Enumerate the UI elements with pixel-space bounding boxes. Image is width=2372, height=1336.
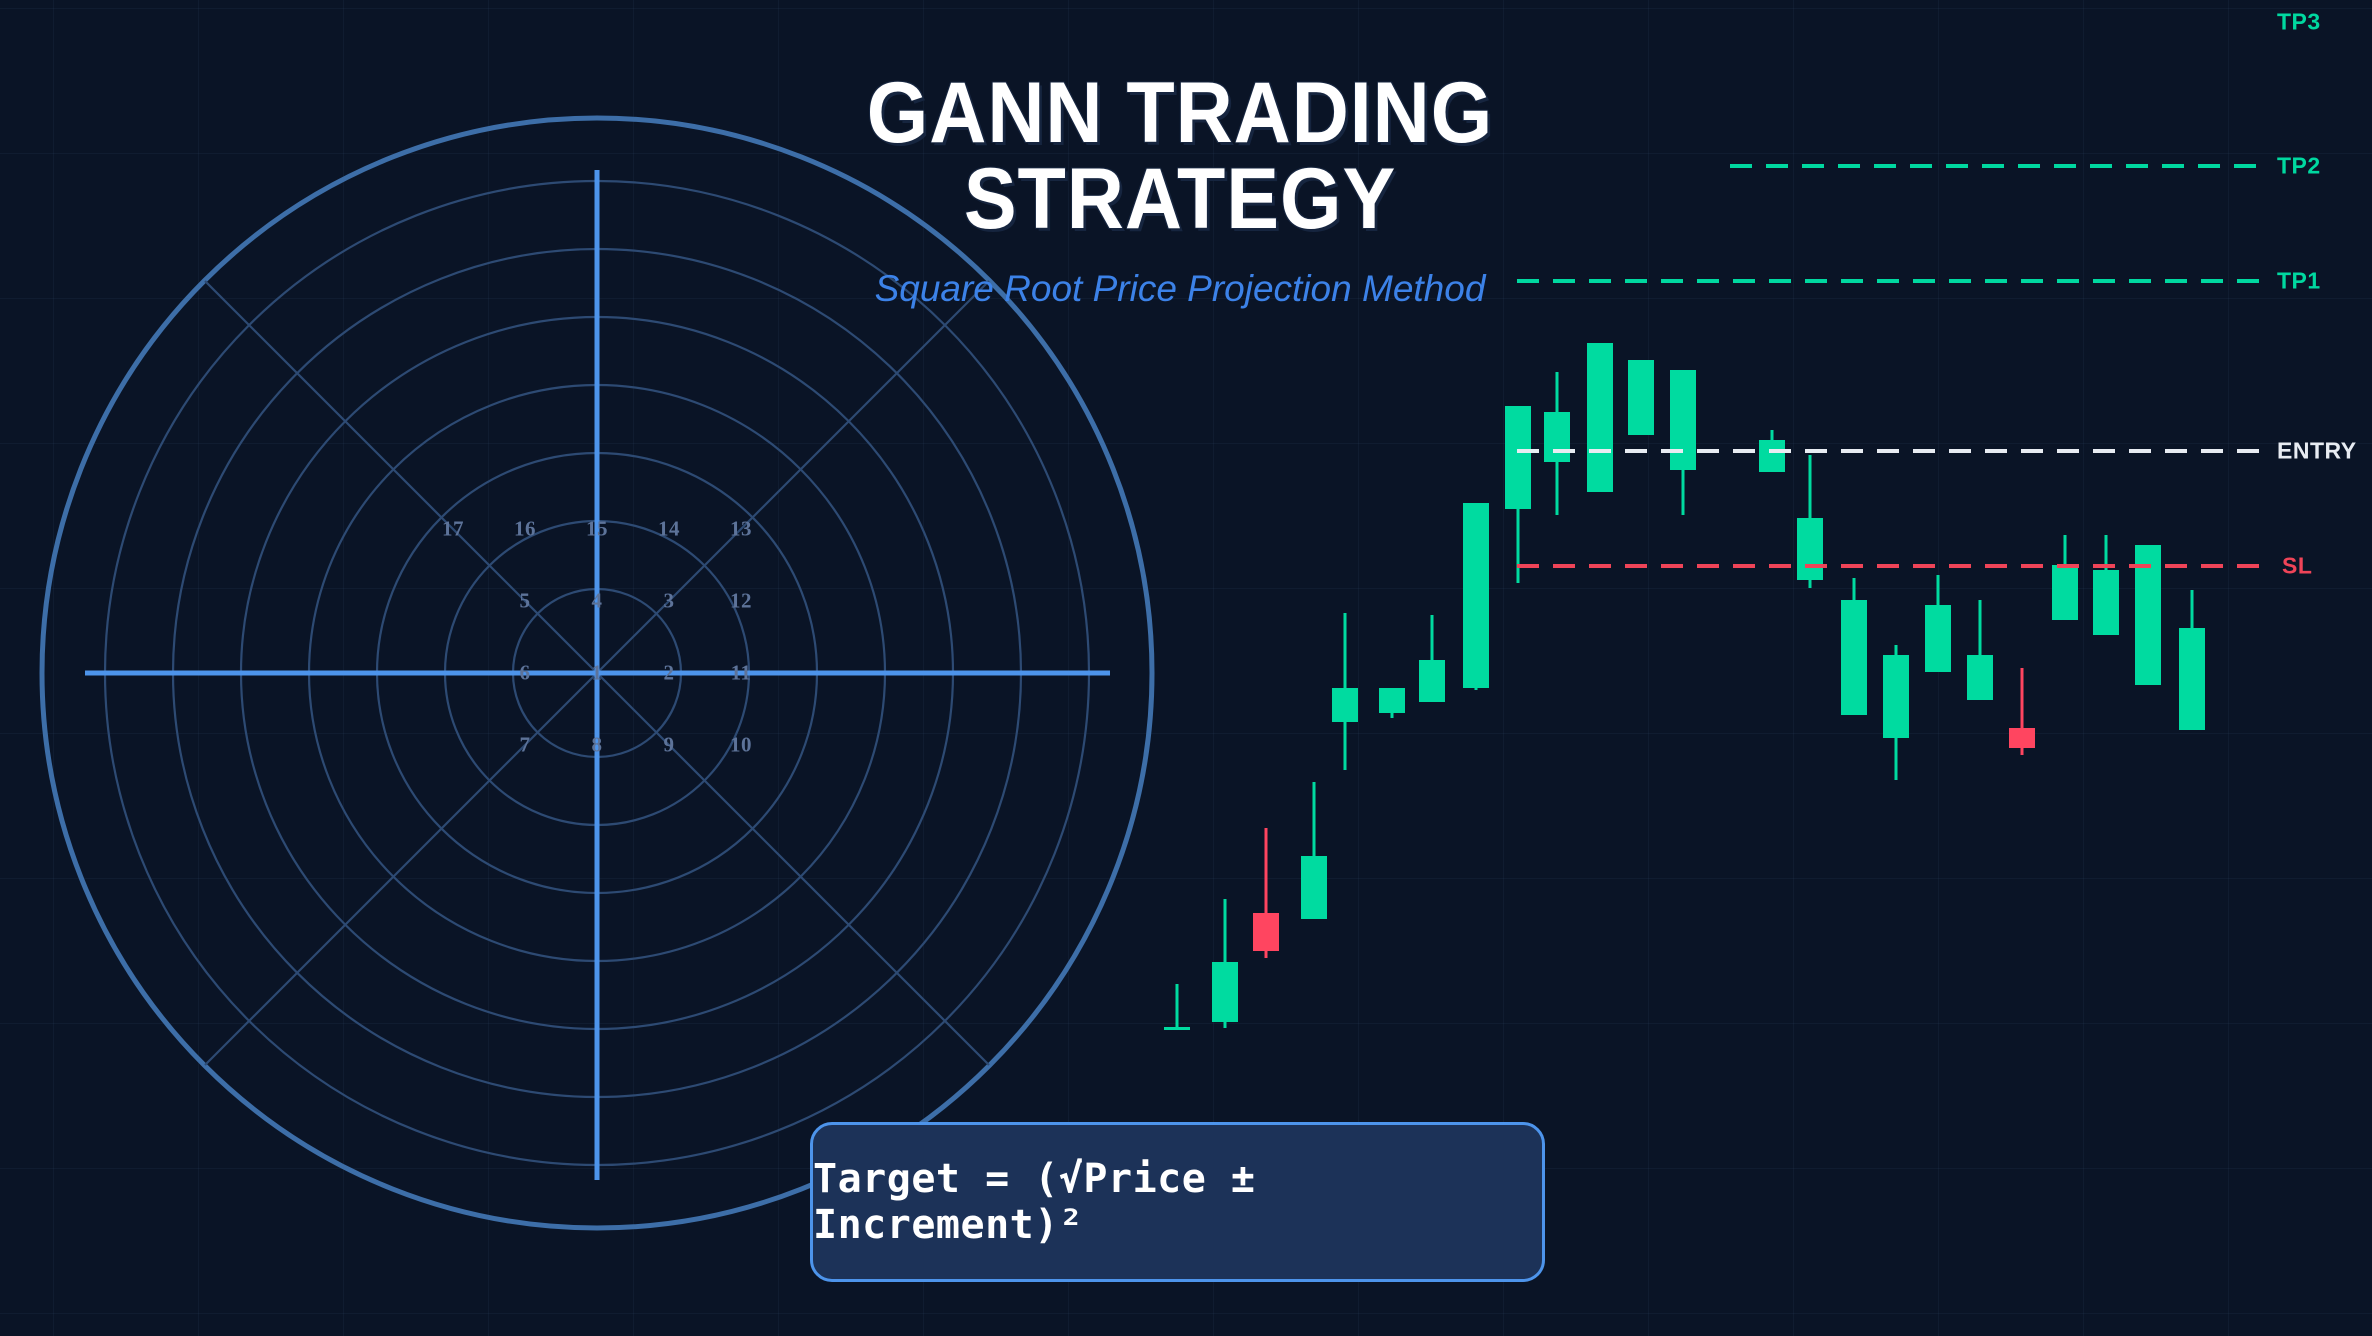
page-subtitle: Square Root Price Projection Method	[600, 268, 1760, 310]
formula-box: Target = (√Price ± Increment)²	[810, 1122, 1545, 1282]
formula-text: Target = (√Price ± Increment)²	[813, 1156, 1542, 1248]
title-block: GANN TRADING STRATEGY Square Root Price …	[600, 70, 1760, 310]
page-title: GANN TRADING STRATEGY	[646, 70, 1713, 242]
gann-strategy-infographic: 1716151413543126121178910 GANN TRADING S…	[0, 0, 2372, 1336]
